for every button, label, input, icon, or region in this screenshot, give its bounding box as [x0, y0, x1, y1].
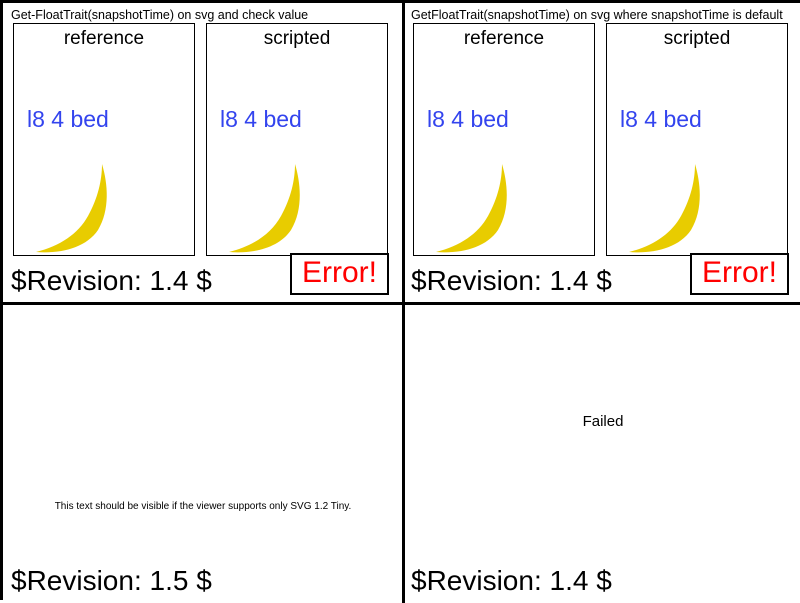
revision-label: $Revision: 1.4 $ [411, 265, 612, 297]
test-quadrant-bottom-left: This text should be visible if the viewe… [3, 303, 403, 603]
panel-label-scripted: scripted [207, 28, 387, 50]
horizontal-divider [3, 302, 800, 305]
crescent-moon-icon [430, 162, 550, 256]
status-badge-label: Error! [702, 256, 777, 290]
revision-label: $Revision: 1.5 $ [11, 565, 212, 597]
failed-status-text: Failed [403, 413, 800, 430]
panel-label-scripted: scripted [607, 28, 787, 50]
panel-label-reference: reference [414, 28, 594, 50]
crescent-moon-icon [623, 162, 743, 256]
revision-label: $Revision: 1.4 $ [11, 265, 212, 297]
test-quadrant-top-right: GetFloatTrait(snapshotTime) on svg where… [403, 3, 800, 303]
panel-blue-text: l8 4 bed [427, 106, 509, 133]
crescent-moon-icon [223, 162, 343, 256]
test-title: GetFloatTrait(snapshotTime) on svg where… [411, 8, 783, 22]
crescent-moon-icon [30, 162, 150, 256]
scripted-panel: scripted l8 4 bed [206, 23, 388, 256]
test-quadrant-top-left: Get-FloatTrait(snapshotTime) on svg and … [3, 3, 403, 303]
panel-blue-text: l8 4 bed [220, 106, 302, 133]
panel-blue-text: l8 4 bed [620, 106, 702, 133]
panel-blue-text: l8 4 bed [27, 106, 109, 133]
status-badge-label: Error! [302, 256, 377, 290]
status-badge: Error! [690, 253, 789, 295]
svg-test-results-page: Get-FloatTrait(snapshotTime) on svg and … [0, 0, 800, 600]
test-quadrant-bottom-right: Failed $Revision: 1.4 $ [403, 303, 800, 603]
status-badge: Error! [290, 253, 389, 295]
test-title: Get-FloatTrait(snapshotTime) on svg and … [11, 8, 308, 22]
svg-tiny-support-note: This text should be visible if the viewe… [3, 501, 403, 512]
reference-panel: reference l8 4 bed [413, 23, 595, 256]
reference-panel: reference l8 4 bed [13, 23, 195, 256]
panel-label-reference: reference [14, 28, 194, 50]
revision-label: $Revision: 1.4 $ [411, 565, 612, 597]
scripted-panel: scripted l8 4 bed [606, 23, 788, 256]
